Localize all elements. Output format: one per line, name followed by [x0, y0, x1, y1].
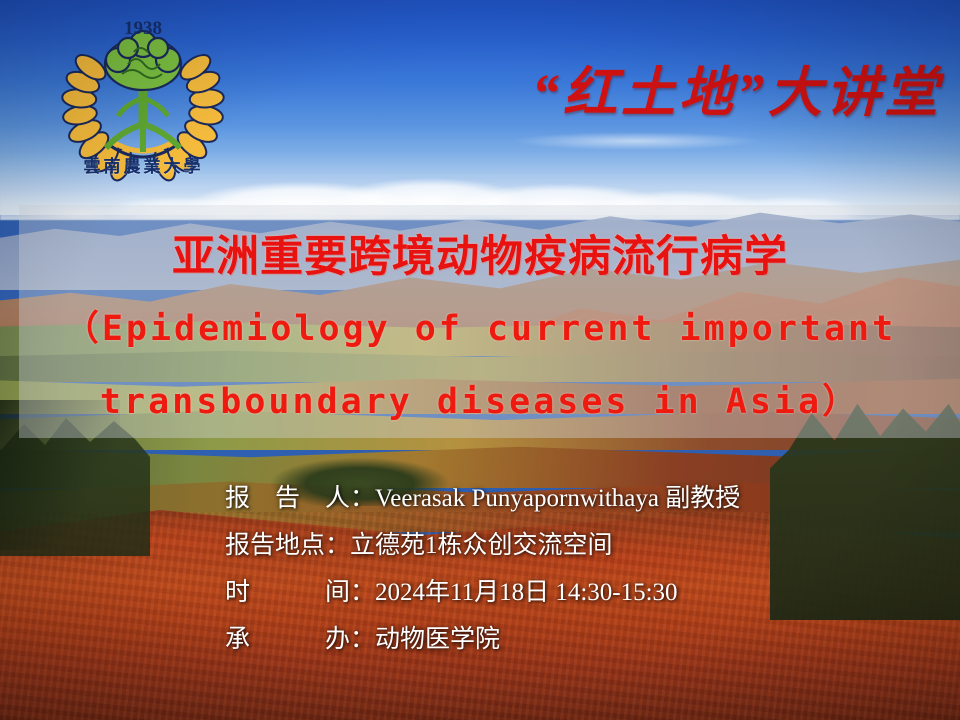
- detail-label: 报 告 人：: [225, 485, 375, 512]
- detail-row-location: 报告地点：立德苑1栋众创交流空间: [225, 522, 925, 569]
- logo-year-text: 1938: [124, 18, 162, 39]
- detail-value: 立德苑1栋众创交流空间: [350, 532, 613, 559]
- detail-label: 报告地点：: [225, 532, 350, 559]
- logo-university-name: 雲南農業大學: [46, 152, 241, 177]
- lecture-series-banner: “红土地”大讲堂: [532, 48, 942, 127]
- detail-row-host: 承 办：动物医学院: [225, 616, 925, 663]
- detail-row-time: 时 间：2024年11月18日 14:30-15:30: [225, 569, 925, 616]
- detail-label: 承 办：: [225, 626, 375, 653]
- detail-value: Veerasak Punyapornwithaya 副教授: [375, 485, 740, 512]
- title-english-line2: transboundary diseases in Asia）: [0, 373, 960, 424]
- event-details: 报 告 人：Veerasak Punyapornwithaya 副教授 报告地点…: [225, 475, 925, 663]
- poster-canvas: 1938 雲南農業大學 “红土地”大讲堂 亚洲重要跨境动物疫病流行病学 （Epi…: [0, 0, 960, 720]
- detail-row-speaker: 报 告 人：Veerasak Punyapornwithaya 副教授: [225, 475, 925, 522]
- detail-value: 2024年11月18日 14:30-15:30: [375, 579, 678, 606]
- detail-value: 动物医学院: [375, 626, 500, 653]
- title-chinese: 亚洲重要跨境动物疫病流行病学: [0, 222, 960, 284]
- title-english-line1: （Epidemiology of current important: [0, 300, 960, 351]
- detail-label: 时 间：: [225, 579, 375, 606]
